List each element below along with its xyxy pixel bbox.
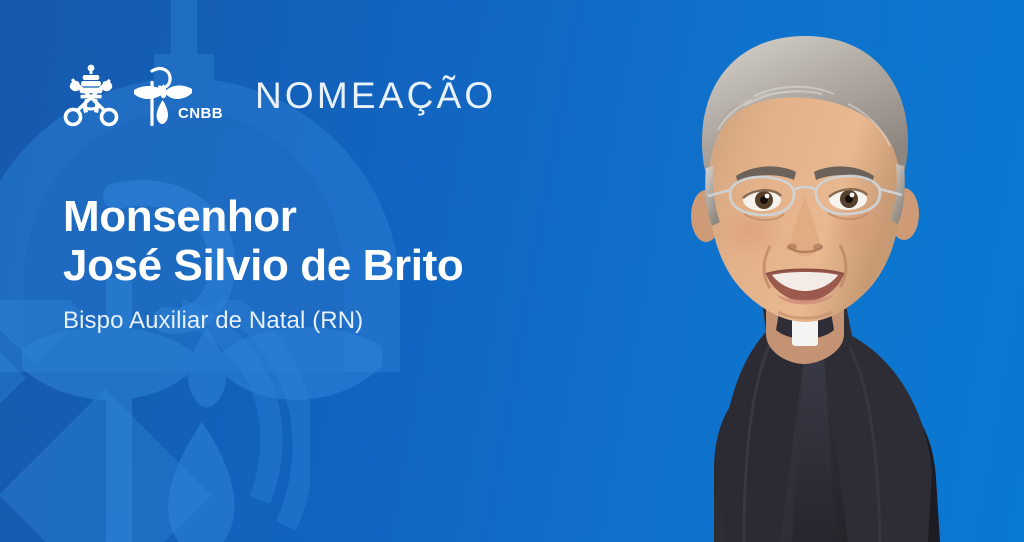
vatican-coat-of-arms-icon [60, 62, 122, 128]
crossed-keys-watermark [0, 300, 310, 542]
portrait-photo [504, 0, 1024, 542]
nomeacao-banner: CNBB NOMEAÇÃO Monsenhor José Silvio de B… [0, 0, 1024, 542]
cnbb-wordmark: CNBB [178, 106, 223, 121]
title-line-2: José Silvio de Brito [63, 241, 463, 290]
title-line-1: Monsenhor [63, 192, 463, 241]
kicker-nomeacao: NOMEAÇÃO [255, 77, 496, 114]
announcement-copy: Monsenhor José Silvio de Brito Bispo Aux… [63, 192, 463, 335]
header-row: CNBB NOMEAÇÃO [60, 62, 496, 128]
role-subtitle: Bispo Auxiliar de Natal (RN) [63, 307, 463, 336]
cnbb-logo: CNBB [132, 62, 223, 128]
